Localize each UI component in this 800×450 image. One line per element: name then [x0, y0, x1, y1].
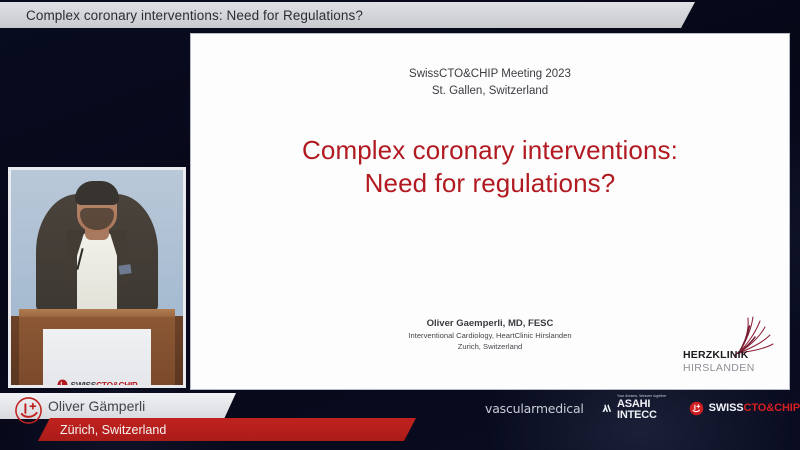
meeting-location: St. Gallen, Switzerland [191, 83, 789, 100]
swissctochip-badge-icon [57, 379, 68, 388]
page-title: Complex coronary interventions: Need for… [26, 8, 363, 23]
podium-side-left [11, 316, 19, 385]
podium: SWISSCTO&CHIP [19, 309, 175, 385]
podium-side-right [175, 316, 183, 385]
jacket-lapel-right-front [109, 230, 127, 288]
jacket-lapel-left-front [67, 230, 85, 288]
presentation-slide: SwissCTO&CHIP Meeting 2023 St. Gallen, S… [190, 33, 790, 390]
podium-logo-white: SWISS [71, 380, 97, 389]
herzklinik-name: HERZKLINIK [683, 349, 749, 361]
asahi-name: ASAHI INTECC [617, 399, 671, 421]
swissctochip-label-white: SWISS [709, 402, 744, 414]
asahi-mark-icon [602, 402, 613, 414]
sponsor-strip: vascularmedical Your dreams, Weaven toge… [485, 398, 800, 418]
swissctochip-badge-icon [14, 396, 43, 425]
swissctochip-badge-icon [689, 401, 704, 416]
slide-title: Complex coronary interventions: Need for… [221, 134, 759, 200]
swissctochip-label-red: CTO&CHIP [744, 402, 800, 414]
podium-logo-red: CTO&CHIP [96, 380, 137, 389]
window-title-bar: Complex coronary interventions: Need for… [0, 2, 695, 28]
sponsor-asahi-intecc: Your dreams, Weaven together ASAHI INTEC… [602, 395, 671, 420]
speaker-video-feed[interactable]: SWISSCTO&CHIP [8, 167, 186, 388]
meeting-header: SwissCTO&CHIP Meeting 2023 St. Gallen, S… [191, 66, 789, 100]
podium-top-edge [19, 309, 175, 317]
herzklinik-hirslanden-logo: HERZKLINIK HIRSLANDEN [683, 313, 775, 379]
podium-logo: SWISSCTO&CHIP [43, 379, 151, 388]
speaker-hair [75, 181, 119, 205]
pocket-square [118, 264, 131, 275]
slide-title-line-1: Complex coronary interventions: [221, 134, 759, 167]
sponsor-vascularmedical: vascularmedical [485, 401, 584, 416]
hirslanden-subname: HIRSLANDEN [683, 362, 755, 374]
slide-title-line-2: Need for regulations? [221, 167, 759, 200]
podium-front-panel: SWISSCTO&CHIP [43, 329, 151, 387]
sponsor-swissctochip: SWISSCTO&CHIP [689, 401, 800, 416]
speaker-location-bar: Zürich, Switzerland [38, 418, 416, 441]
meeting-name: SwissCTO&CHIP Meeting 2023 [191, 66, 789, 83]
speaker-name: Oliver Gämperli [48, 398, 145, 414]
speaker-location: Zürich, Switzerland [60, 423, 166, 437]
